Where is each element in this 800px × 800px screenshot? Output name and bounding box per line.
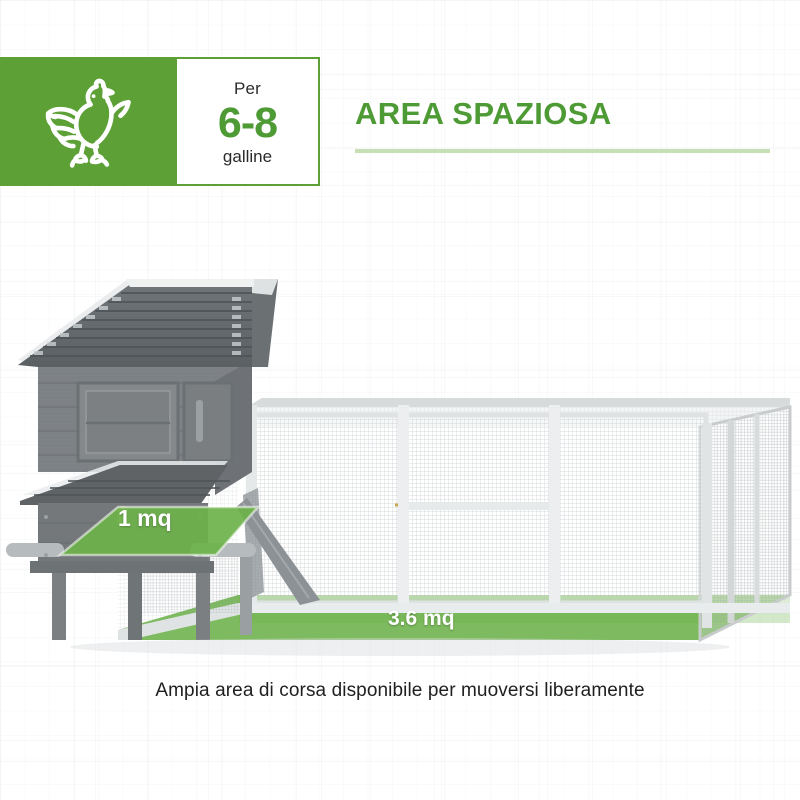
run-front-panels bbox=[252, 415, 706, 603]
infographic-page: Per 6-8 galline AREA SPAZIOSA bbox=[0, 0, 800, 800]
coop-roof bbox=[18, 279, 278, 367]
capacity-unit-label: galline bbox=[223, 148, 272, 165]
caption-text: Ampia area di corsa disponibile per muov… bbox=[0, 680, 800, 702]
capacity-card: Per 6-8 galline bbox=[175, 57, 320, 186]
badge-icon-panel bbox=[0, 57, 175, 186]
hen-icon bbox=[36, 74, 140, 170]
capacity-count: 6-8 bbox=[218, 100, 277, 146]
run-area-label: 3.6 mq bbox=[388, 607, 455, 631]
product-illustration bbox=[0, 255, 800, 665]
capacity-per-label: Per bbox=[234, 80, 261, 97]
coop-area-label: 1 mq bbox=[118, 505, 172, 532]
page-title: AREA SPAZIOSA bbox=[355, 98, 612, 129]
title-underline bbox=[355, 149, 770, 153]
capacity-badge: Per 6-8 galline bbox=[0, 57, 320, 186]
